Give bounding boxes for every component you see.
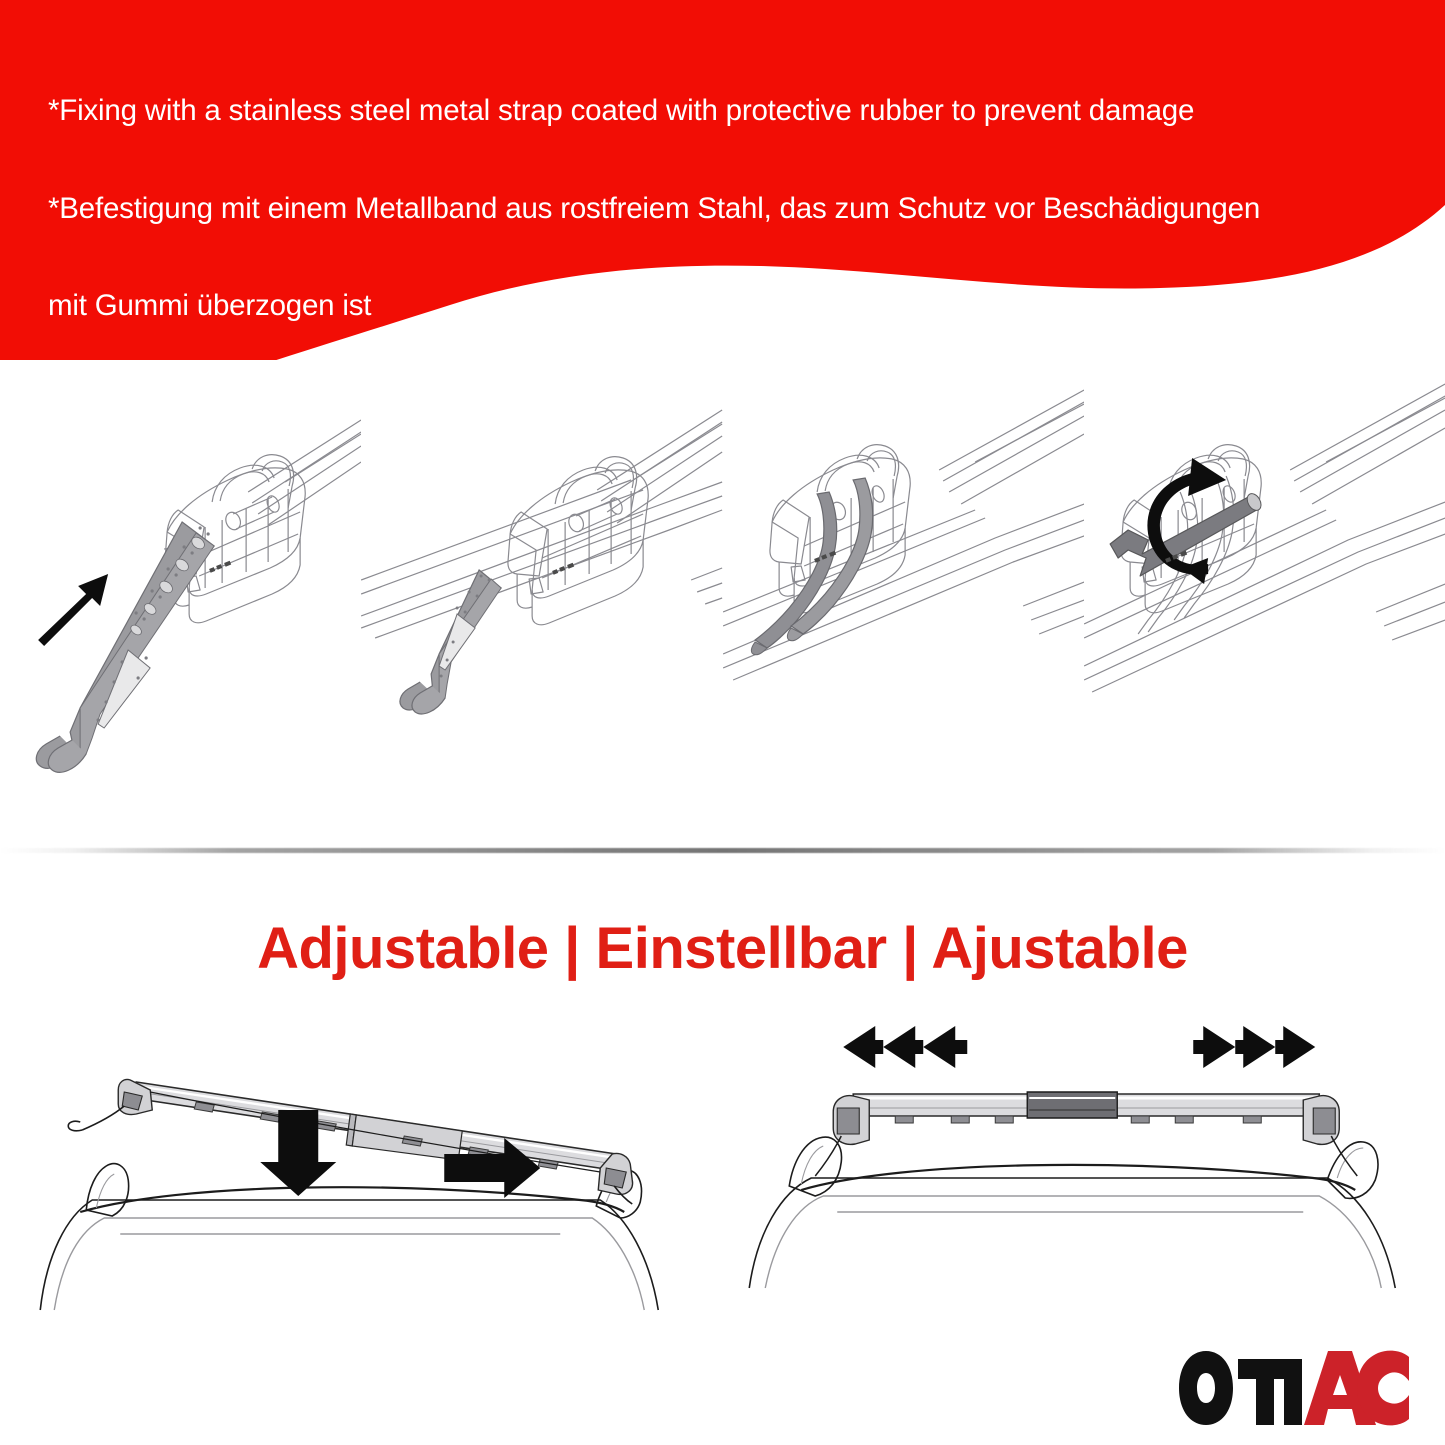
step-4-tighten-allen-key: [1084, 362, 1445, 832]
step-1-illustration: [0, 362, 361, 832]
crossbar-assembly: [68, 1079, 632, 1204]
crossbar-assembly: [815, 1092, 1357, 1176]
banner-text-block: *Fixing with a stainless steel metal str…: [48, 30, 1418, 360]
banner-line-de-2: mit Gummi überzogen ist: [48, 290, 1418, 323]
section-divider: [0, 848, 1445, 853]
panel-width-adjust: [723, 1020, 1445, 1320]
foot-brand-mark: [209, 561, 231, 573]
metal-strap-part: [36, 522, 214, 772]
banner-line-en: *Fixing with a stainless steel metal str…: [48, 95, 1418, 128]
omac-logo-mark: [1178, 1349, 1410, 1427]
triple-right-arrow-icon: [1193, 1026, 1315, 1068]
step-2-foot-on-rail: [361, 362, 722, 832]
banner-line-de-1: *Befestigung mit einem Metallband aus ro…: [48, 193, 1418, 226]
step-3-illustration: [723, 362, 1084, 832]
metal-strap-part: [400, 570, 501, 714]
step-3-strap-wrapped: [723, 362, 1084, 832]
step-4-illustration: [1084, 362, 1445, 832]
adjustment-diagrams: [0, 1020, 1445, 1320]
step-1-insert-strap: [0, 362, 361, 832]
triple-left-arrow-icon: [843, 1026, 967, 1068]
height-slide-illustration: [0, 1020, 723, 1320]
hero-banner: *Fixing with a stainless steel metal str…: [0, 0, 1445, 360]
logo-letter-o: [1179, 1351, 1233, 1425]
width-adjust-illustration: [723, 1020, 1445, 1320]
omac-logo: [1178, 1349, 1410, 1427]
up-arrow-icon: [38, 574, 108, 646]
adjustable-heading: Adjustable | Einstellbar | Ajustable: [0, 915, 1445, 982]
panel-height-slide-adjust: [0, 1020, 723, 1320]
step-2-illustration: [361, 362, 722, 832]
allen-key-icon: [1110, 491, 1264, 576]
installation-steps: [0, 362, 1445, 832]
logo-letter-m: [1238, 1359, 1302, 1425]
